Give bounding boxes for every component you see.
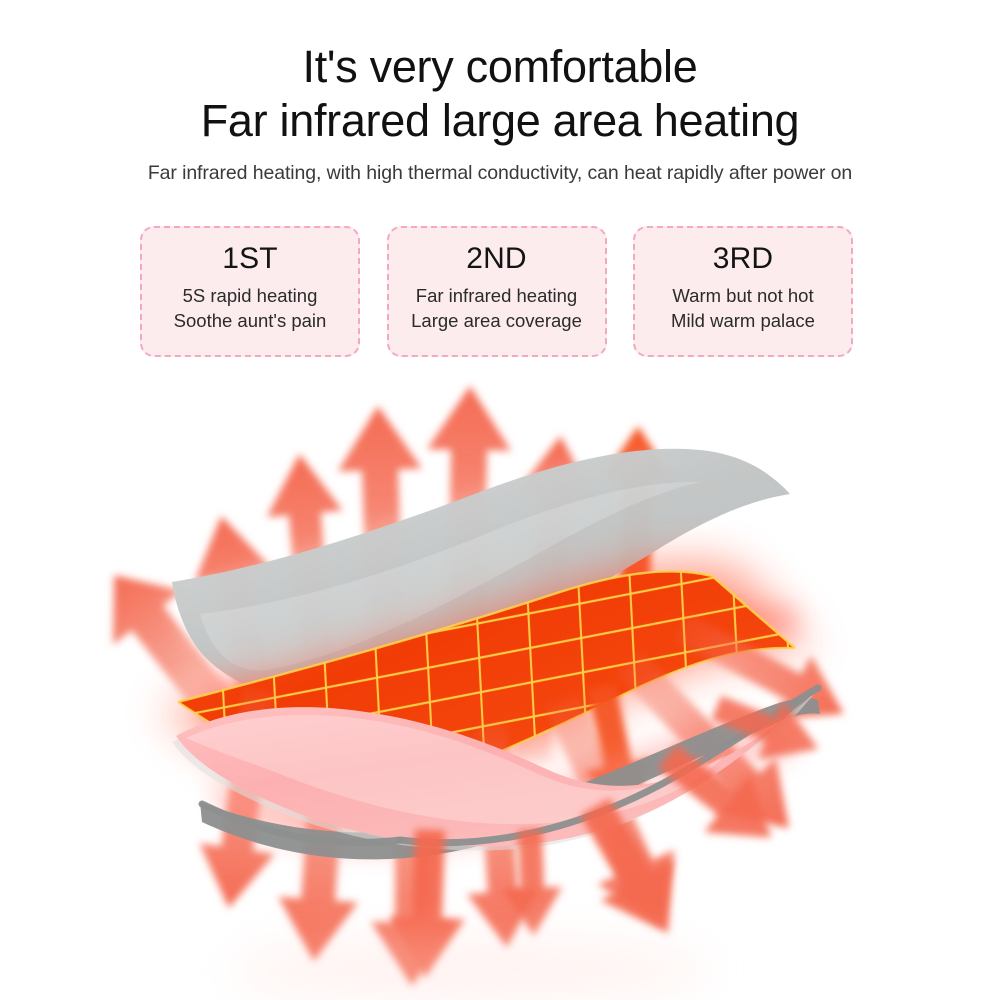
page-title-line-2: Far infrared large area heating (0, 93, 1000, 149)
feature-line-1: 5S rapid heating (174, 283, 327, 308)
feature-text-group: 5S rapid heating Soothe aunt's pain (174, 283, 327, 333)
feature-text-group: Far infrared heating Large area coverage (411, 283, 582, 333)
feature-line-2: Large area coverage (411, 308, 582, 333)
feature-box-2nd: 2ND Far infrared heating Large area cove… (387, 226, 607, 357)
heating-layers-illustration (0, 370, 1000, 1000)
feature-line-2: Soothe aunt's pain (174, 308, 327, 333)
feature-line-1: Far infrared heating (411, 283, 582, 308)
feature-box-3rd: 3RD Warm but not hot Mild warm palace (633, 226, 853, 357)
feature-rank-label: 1ST (222, 239, 278, 279)
feature-text-group: Warm but not hot Mild warm palace (671, 283, 815, 333)
page-title-line-1: It's very comfortable (0, 40, 1000, 93)
feature-line-1: Warm but not hot (671, 283, 815, 308)
feature-line-2: Mild warm palace (671, 308, 815, 333)
feature-rank-label: 2ND (466, 239, 527, 279)
feature-rank-label: 3RD (713, 239, 774, 279)
feature-box-group: 1ST 5S rapid heating Soothe aunt's pain … (140, 226, 853, 357)
feature-box-1st: 1ST 5S rapid heating Soothe aunt's pain (140, 226, 360, 357)
page-header: It's very comfortable Far infrared large… (0, 0, 1000, 186)
page-subtitle: Far infrared heating, with high thermal … (0, 161, 1000, 186)
bottom-haze (230, 936, 710, 1000)
